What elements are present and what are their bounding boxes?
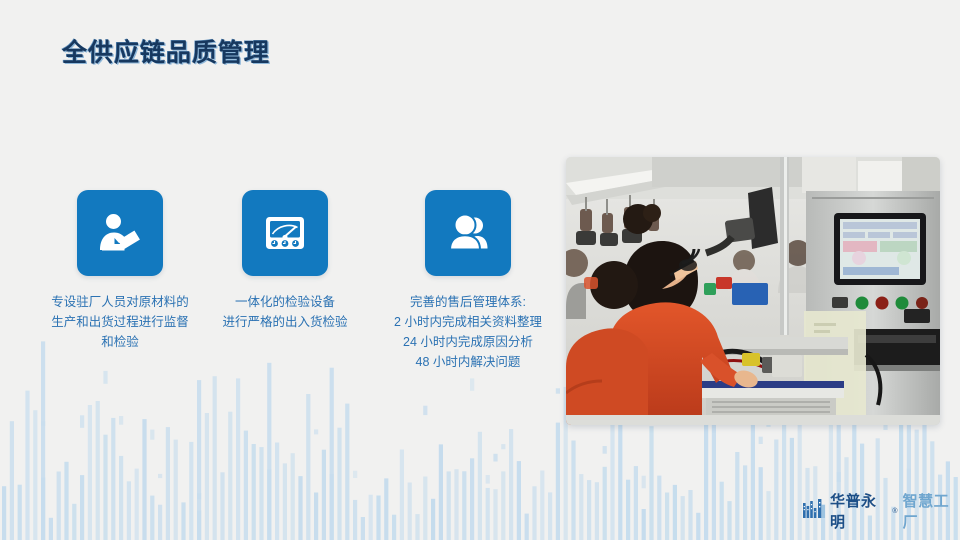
- caption-line: 和检验: [34, 332, 206, 352]
- gauge-meter-icon: [259, 207, 311, 259]
- logo-sub-text: 智慧工厂: [903, 490, 960, 532]
- caption-line: 2 小时内完成相关资料整理: [382, 312, 554, 332]
- feature-caption: 专设驻厂人员对原材料的 生产和出货过程进行监督 和检验: [34, 292, 206, 352]
- building-bars-logo-icon: [803, 499, 825, 523]
- caption-line: 完善的售后管理体系:: [382, 292, 554, 312]
- slide-canvas: 全供应链品质管理 专设驻厂人员对原材料的 生产和出货过程进行监督 和检验: [0, 0, 960, 540]
- caption-line: 48 小时内解决问题: [382, 352, 554, 372]
- feature-item-after-sales: 完善的售后管理体系: 2 小时内完成相关资料整理 24 小时内完成原因分析 48…: [382, 190, 554, 372]
- caption-line: 进行严格的出入货检验: [200, 312, 370, 332]
- feature-caption: 一体化的检验设备 进行严格的出入货检验: [200, 292, 370, 332]
- caption-line: 生产和出货过程进行监督: [34, 312, 206, 332]
- caption-line: 24 小时内完成原因分析: [382, 332, 554, 352]
- caption-line: 一体化的检验设备: [200, 292, 370, 312]
- feature-icon-tile: [425, 190, 511, 276]
- feature-item-inspection-staff: 专设驻厂人员对原材料的 生产和出货过程进行监督 和检验: [34, 190, 206, 352]
- feature-caption: 完善的售后管理体系: 2 小时内完成相关资料整理 24 小时内完成原因分析 48…: [382, 292, 554, 372]
- logo-trademark: ®: [892, 508, 897, 515]
- feature-icon-tile: [242, 190, 328, 276]
- feature-icon-tile: [77, 190, 163, 276]
- caption-line: 专设驻厂人员对原材料的: [34, 292, 206, 312]
- logo-main-text: 华普永明: [830, 490, 887, 532]
- page-title: 全供应链品质管理: [62, 33, 270, 69]
- brand-logo: 华普永明 ® 智慧工厂: [803, 490, 960, 532]
- feature-item-inspection-equipment: 一体化的检验设备 进行严格的出入货检验: [200, 190, 370, 332]
- two-users-icon: [442, 207, 494, 259]
- person-reading-document-icon: [94, 207, 146, 259]
- factory-production-line-photo: [566, 157, 940, 425]
